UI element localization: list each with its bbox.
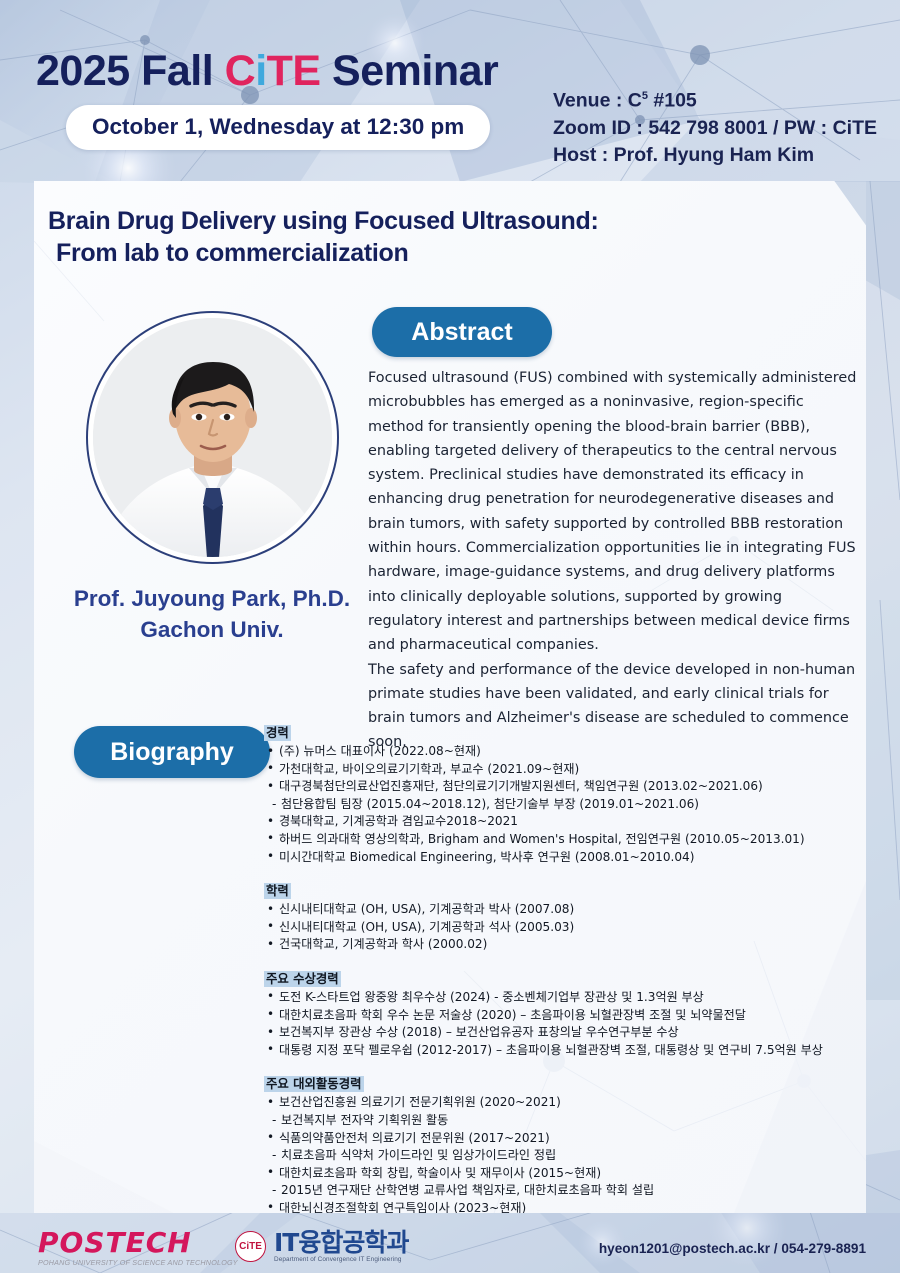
list-item: 대통령 지정 포닥 펠로우쉽 (2012-2017) – 초음파이용 뇌혈관장벽…	[264, 1042, 860, 1060]
biography-badge: Biography	[74, 726, 270, 778]
contact-info: hyeon1201@postech.ac.kr / 054-279-8891	[599, 1241, 866, 1256]
biography-section-heading: 주요 대외활동경력	[264, 1076, 364, 1092]
biography-section-heading: 주요 수상경력	[264, 971, 341, 987]
list-item: 도전 K-스타트업 왕중왕 최우수상 (2024) - 중소벤체기업부 장관상 …	[264, 989, 860, 1007]
biography-section-heading: 경력	[264, 725, 291, 741]
cite-seal-icon: CiTE	[235, 1231, 266, 1262]
abstract-badge: Abstract	[372, 307, 552, 357]
list-item: 첨단융합팀 팀장 (2015.04~2018.12), 첨단기술부 부장 (20…	[264, 796, 860, 814]
biography-section: 학력신시내티대학교 (OH, USA), 기계공학과 박사 (2007.08)신…	[264, 880, 860, 954]
biography-section: 주요 대외활동경력보건산업진흥원 의료기기 전문기획위원 (2020~2021)…	[264, 1073, 860, 1235]
list-item: 신시내티대학교 (OH, USA), 기계공학과 석사 (2005.03)	[264, 919, 860, 937]
abstract-text: Focused ultrasound (FUS) combined with s…	[368, 366, 858, 755]
venue-room: #105	[648, 90, 697, 112]
speaker-photo-frame	[86, 311, 339, 564]
list-item: 식품의약품안전처 의료기기 전문위원 (2017~2021)	[264, 1130, 860, 1148]
speaker-name: Prof. Juyoung Park, Ph.D.	[52, 583, 372, 614]
cite-department-logo: CiTE IT융합공학과 Department of Convergence I…	[235, 1230, 408, 1263]
list-item: 가천대학교, 바이오의료기기학과, 부교수 (2021.09~현재)	[264, 761, 860, 779]
title-suffix: Seminar	[321, 47, 499, 95]
biography-list: (주) 뉴머스 대표이사 (2022.08~현재)가천대학교, 바이오의료기기학…	[264, 743, 860, 866]
list-item: 경북대학교, 기계공학과 겸임교수2018~2021	[264, 813, 860, 831]
list-item: 치료초음파 식약처 가이드라인 및 임상가이드라인 정립	[264, 1147, 860, 1165]
talk-title-line-1: Brain Drug Delivery using Focused Ultras…	[48, 207, 598, 235]
talk-title-line-2: From lab to commercialization	[48, 237, 818, 269]
list-item: (주) 뉴머스 대표이사 (2022.08~현재)	[264, 743, 860, 761]
date-badge: October 1, Wednesday at 12:30 pm	[66, 105, 490, 150]
zoom-info-line: Zoom ID : 542 798 8001 / PW : CiTE	[553, 115, 877, 142]
postech-tagline: POHANG UNIVERSITY OF SCIENCE AND TECHNOL…	[38, 1258, 228, 1267]
postech-logo: POSTECH POHANG UNIVERSITY OF SCIENCE AND…	[38, 1229, 228, 1267]
list-item: 보건산업진흥원 의료기기 전문기획위원 (2020~2021)	[264, 1094, 860, 1112]
abstract-paragraph-1: Focused ultrasound (FUS) combined with s…	[368, 366, 858, 658]
speaker-affiliation: Gachon Univ.	[52, 614, 372, 645]
postech-wordmark: POSTECH	[38, 1229, 228, 1257]
biography-content: 경력(주) 뉴머스 대표이사 (2022.08~현재)가천대학교, 바이오의료기…	[264, 722, 860, 1249]
cite-seal-text: CiTE	[239, 1241, 262, 1252]
host-line: Host : Prof. Hyung Ham Kim	[553, 142, 877, 169]
department-name-ko: IT융합공학과	[274, 1230, 408, 1255]
avatar	[93, 318, 332, 557]
venue-line: Venue : C5 #105	[553, 83, 877, 115]
talk-title: Brain Drug Delivery using Focused Ultras…	[48, 205, 818, 269]
list-item: 보건복지부 장관상 수상 (2018) – 보건산업유공자 표창의날 우수연구부…	[264, 1024, 860, 1042]
biography-section: 주요 수상경력도전 K-스타트업 왕중왕 최우수상 (2024) - 중소벤체기…	[264, 968, 860, 1059]
venue-label: Venue : C	[553, 90, 642, 112]
biography-section: 경력(주) 뉴머스 대표이사 (2022.08~현재)가천대학교, 바이오의료기…	[264, 722, 860, 866]
title-cite-i: i	[255, 47, 266, 95]
list-item: 대구경북첨단의료산업진흥재단, 첨단의료기기개발지원센터, 책임연구원 (201…	[264, 778, 860, 796]
list-item: 대한치료초음파 학회 우수 논문 저술상 (2020) – 초음파이용 뇌혈관장…	[264, 1007, 860, 1025]
list-item: 2015년 연구재단 산학연병 교류사업 책임자로, 대한치료초음파 학회 설립	[264, 1182, 860, 1200]
content-panel: Brain Drug Delivery using Focused Ultras…	[34, 181, 866, 1213]
speaker-info: Prof. Juyoung Park, Ph.D. Gachon Univ.	[52, 583, 372, 645]
poster-header: 2025 Fall CiTE Seminar October 1, Wednes…	[0, 0, 900, 182]
title-cite-te: TE	[267, 47, 321, 95]
title-cite-c: C	[225, 47, 256, 95]
list-item: 하버드 의과대학 영상의학과, Brigham and Women's Hosp…	[264, 831, 860, 849]
list-item: 미시간대학교 Biomedical Engineering, 박사후 연구원 (…	[264, 849, 860, 867]
department-name-block: IT융합공학과 Department of Convergence IT Eng…	[274, 1230, 408, 1263]
page-title: 2025 Fall CiTE Seminar	[36, 47, 498, 96]
list-item: 대한치료초음파 학회 창립, 학술이사 및 재무이사 (2015~현재)	[264, 1165, 860, 1183]
biography-list: 신시내티대학교 (OH, USA), 기계공학과 박사 (2007.08)신시내…	[264, 901, 860, 954]
list-item: 신시내티대학교 (OH, USA), 기계공학과 박사 (2007.08)	[264, 901, 860, 919]
biography-list: 도전 K-스타트업 왕중왕 최우수상 (2024) - 중소벤체기업부 장관상 …	[264, 989, 860, 1059]
venue-info: Venue : C5 #105 Zoom ID : 542 798 8001 /…	[553, 83, 877, 169]
speaker-portrait	[93, 318, 332, 557]
list-item: 보건복지부 전자약 기획위원 활동	[264, 1112, 860, 1130]
department-name-en: Department of Convergence IT Engineering	[274, 1257, 408, 1263]
title-prefix: 2025 Fall	[36, 47, 225, 95]
seminar-poster: 2025 Fall CiTE Seminar October 1, Wednes…	[0, 0, 900, 1273]
list-item: 건국대학교, 기계공학과 학사 (2000.02)	[264, 936, 860, 954]
biography-section-heading: 학력	[264, 883, 291, 899]
